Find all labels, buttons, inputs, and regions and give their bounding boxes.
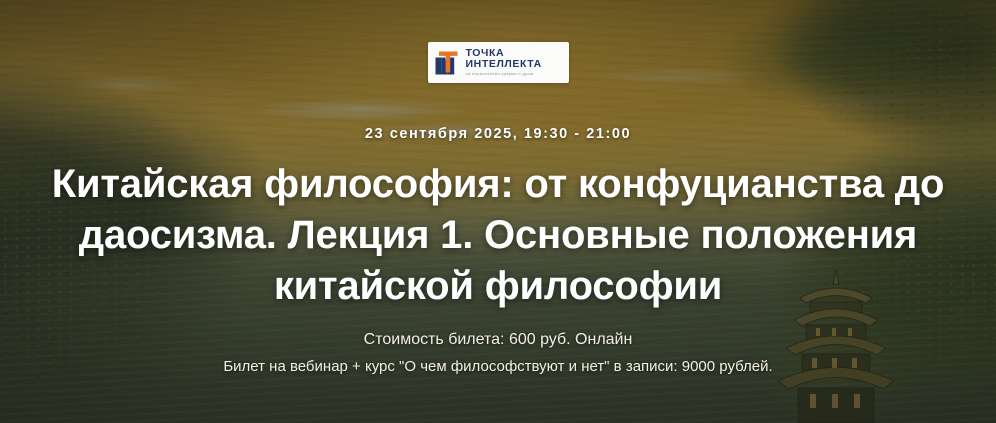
logo-line-2: ИНТЕЛЛЕКТА (466, 59, 542, 70)
logo-mark-icon (434, 50, 460, 76)
event-date: 23 сентября 2025, 19:30 - 21:00 (365, 126, 631, 142)
banner-content: ТОЧКА ИНТЕЛЛЕКТА на пересечении разума и… (0, 0, 996, 423)
brand-logo[interactable]: ТОЧКА ИНТЕЛЛЕКТА на пересечении разума и… (428, 42, 569, 83)
page-title: Китайская философия: от конфуцианства до… (48, 159, 948, 312)
event-banner: ТОЧКА ИНТЕЛЛЕКТА на пересечении разума и… (0, 0, 996, 423)
ticket-price: Стоимость билета: 600 руб. Онлайн (223, 328, 772, 352)
title-line-2: даосизма. Лекция 1. Основные положения (48, 210, 948, 261)
logo-tagline: на пересечении разума и души (466, 71, 542, 77)
title-line-1: Китайская философия: от конфуцианства до (48, 159, 948, 210)
title-line-3: китайской философии (48, 261, 948, 312)
bundle-price: Билет на вебинар + курс "О чем философст… (223, 355, 772, 378)
logo-wordmark: ТОЧКА ИНТЕЛЛЕКТА на пересечении разума и… (466, 48, 542, 78)
pricing-block: Стоимость билета: 600 руб. Онлайн Билет … (223, 328, 772, 378)
